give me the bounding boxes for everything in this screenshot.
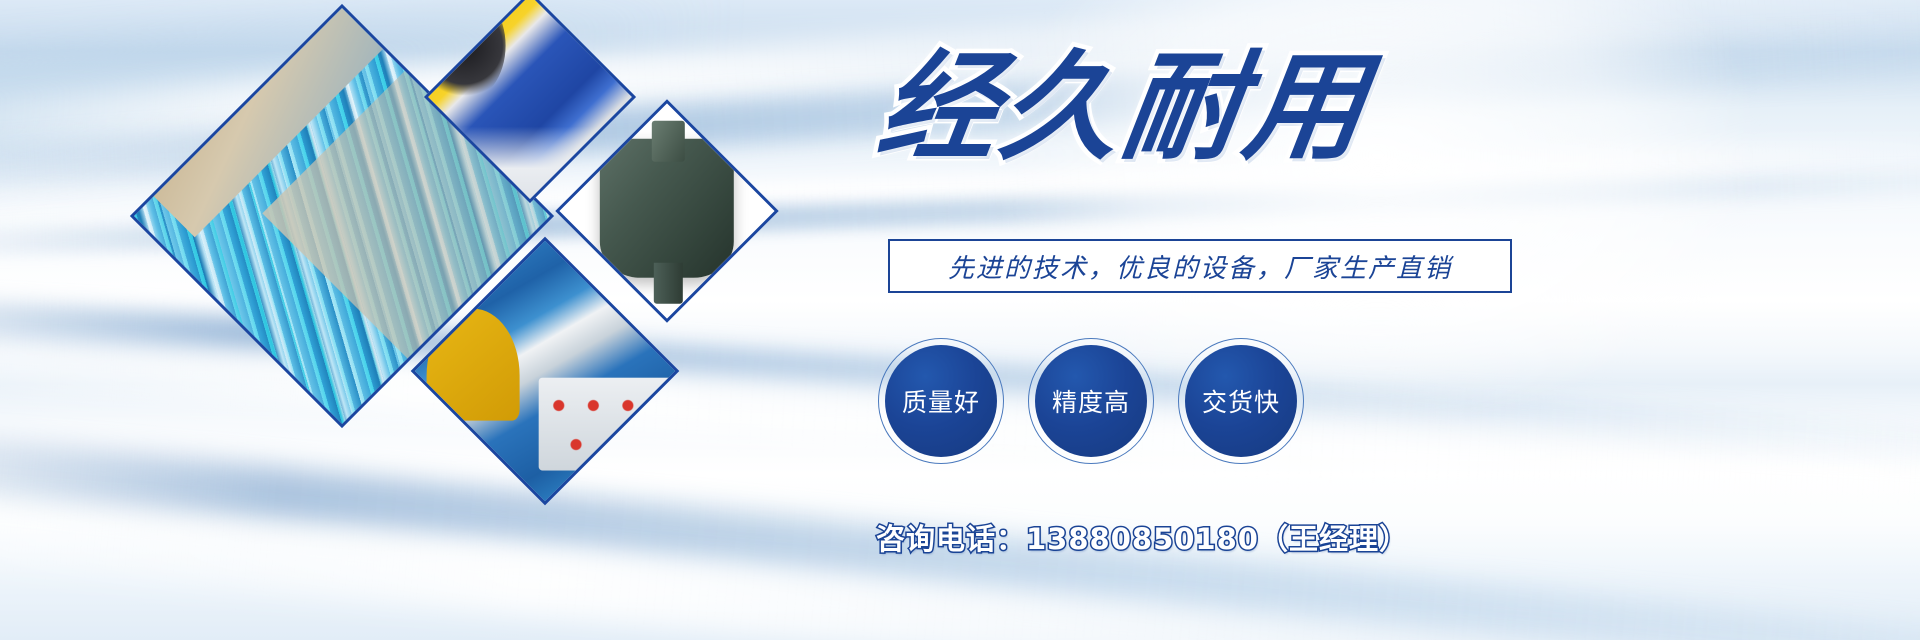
contact-phone-text[interactable]: 咨询电话：13880850180（王经理） [876, 516, 1409, 558]
badge-label: 交货快 [1202, 383, 1280, 419]
badge-core: 交货快 [1185, 345, 1297, 457]
subtitle-text: 先进的技术，优良的设备，厂家生产直销 [948, 248, 1452, 285]
badge-label: 质量好 [902, 383, 980, 419]
subtitle-box: 先进的技术，优良的设备，厂家生产直销 [888, 239, 1512, 293]
feature-badge-precision[interactable]: 精度高 [1028, 338, 1154, 464]
badge-label: 精度高 [1052, 383, 1130, 419]
feature-badge-delivery[interactable]: 交货快 [1178, 338, 1304, 464]
badge-core: 精度高 [1035, 345, 1147, 457]
product-image-collage [150, 14, 850, 626]
badge-core: 质量好 [885, 345, 997, 457]
feature-badge-group: 质量好 精度高 交货快 [878, 338, 1304, 464]
banner-content: 经久耐用 先进的技术，优良的设备，厂家生产直销 质量好 精度高 交货快 [860, 0, 1920, 640]
feature-badge-quality[interactable]: 质量好 [878, 338, 1004, 464]
headline-text: 经久耐用 [872, 48, 1377, 166]
promo-banner: 经久耐用 先进的技术，优良的设备，厂家生产直销 质量好 精度高 交货快 [0, 0, 1920, 640]
